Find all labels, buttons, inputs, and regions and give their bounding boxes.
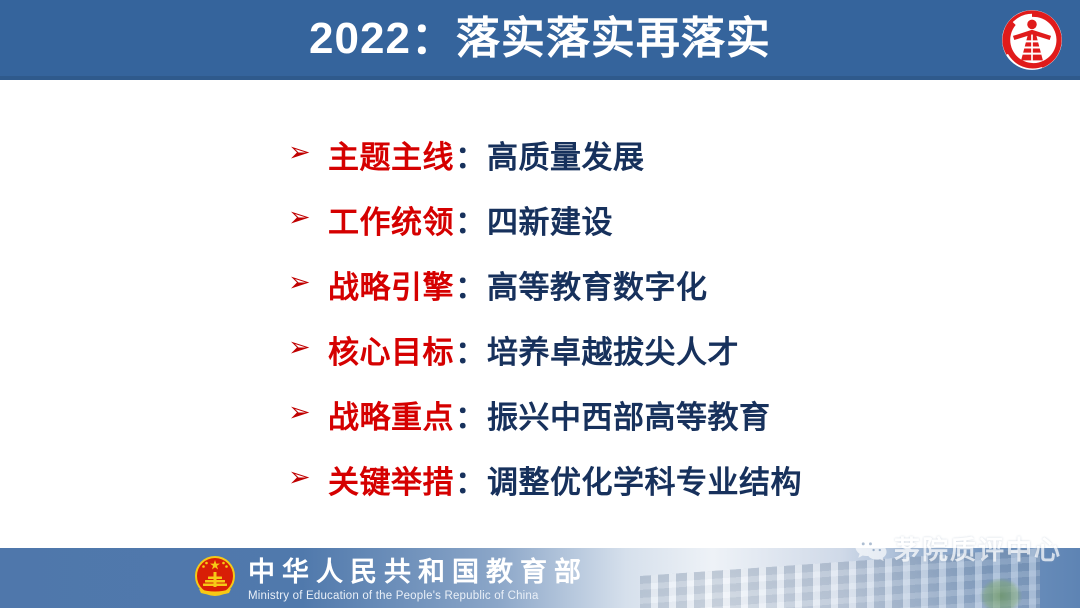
list-item: ➢ 关键举措 ： 调整优化学科专业结构 — [288, 447, 1048, 512]
arrow-bullet-icon: ➢ — [288, 204, 328, 231]
slide: 2022：落实落实再落实 ➢ 主题主线 ： 高质量发展 — [0, 0, 1080, 608]
arrow-bullet-icon: ➢ — [288, 399, 328, 426]
wechat-icon — [854, 535, 888, 563]
list-item-key: 关键举措 — [328, 457, 454, 502]
list-item-value: 调整优化学科专业结构 — [487, 457, 802, 502]
watermark: 茅院质评中心 — [854, 530, 1062, 567]
slide-header: 2022：落实落实再落实 — [0, 0, 1080, 80]
slide-body: ➢ 主题主线 ： 高质量发展 ➢ 工作统领 ： 四新建设 ➢ 战略引擎 ： 高等… — [0, 84, 1080, 544]
list-item-separator: ： — [454, 327, 487, 372]
list-item-separator: ： — [454, 392, 487, 437]
list-item-value: 高质量发展 — [487, 132, 645, 177]
list-item-value: 振兴中西部高等教育 — [487, 392, 771, 437]
list-item-separator: ： — [454, 457, 487, 502]
list-item: ➢ 核心目标 ： 培养卓越拔尖人才 — [288, 317, 1048, 382]
watermark-text: 茅院质评中心 — [894, 530, 1062, 567]
list-item-value: 培养卓越拔尖人才 — [487, 327, 739, 372]
list-item: ➢ 工作统领 ： 四新建设 — [288, 187, 1048, 252]
china-national-emblem — [190, 552, 240, 604]
list-item-key: 主题主线 — [328, 132, 454, 177]
list-item-value: 高等教育数字化 — [487, 262, 708, 307]
list-item-value: 四新建设 — [487, 197, 613, 242]
arrow-bullet-icon: ➢ — [288, 334, 328, 361]
ministry-name-cn: 中华人民共和国教育部 — [248, 559, 588, 586]
list-item: ➢ 战略重点 ： 振兴中西部高等教育 — [288, 382, 1048, 447]
ministry-name-en: Ministry of Education of the People's Re… — [248, 591, 588, 603]
arrow-bullet-icon: ➢ — [288, 269, 328, 296]
list-item-key: 核心目标 — [328, 327, 454, 372]
key-points-list: ➢ 主题主线 ： 高质量发展 ➢ 工作统领 ： 四新建设 ➢ 战略引擎 ： 高等… — [288, 122, 1048, 512]
list-item: ➢ 主题主线 ： 高质量发展 — [288, 122, 1048, 187]
page-title: 2022：落实落实再落实 — [0, 0, 1080, 80]
ministry-name-block: 中华人民共和国教育部 Ministry of Education of the … — [248, 559, 588, 603]
list-item-separator: ： — [454, 132, 487, 177]
arrow-bullet-icon: ➢ — [288, 139, 328, 166]
list-item-key: 战略重点 — [328, 392, 454, 437]
list-item-key: 工作统领 — [328, 197, 454, 242]
arrow-bullet-icon: ➢ — [288, 464, 328, 491]
tree-decoration — [980, 578, 1022, 608]
tower-figure-circle-logo — [998, 6, 1066, 74]
list-item-separator: ： — [454, 197, 487, 242]
list-item: ➢ 战略引擎 ： 高等教育数字化 — [288, 252, 1048, 317]
list-item-separator: ： — [454, 262, 487, 307]
list-item-key: 战略引擎 — [328, 262, 454, 307]
